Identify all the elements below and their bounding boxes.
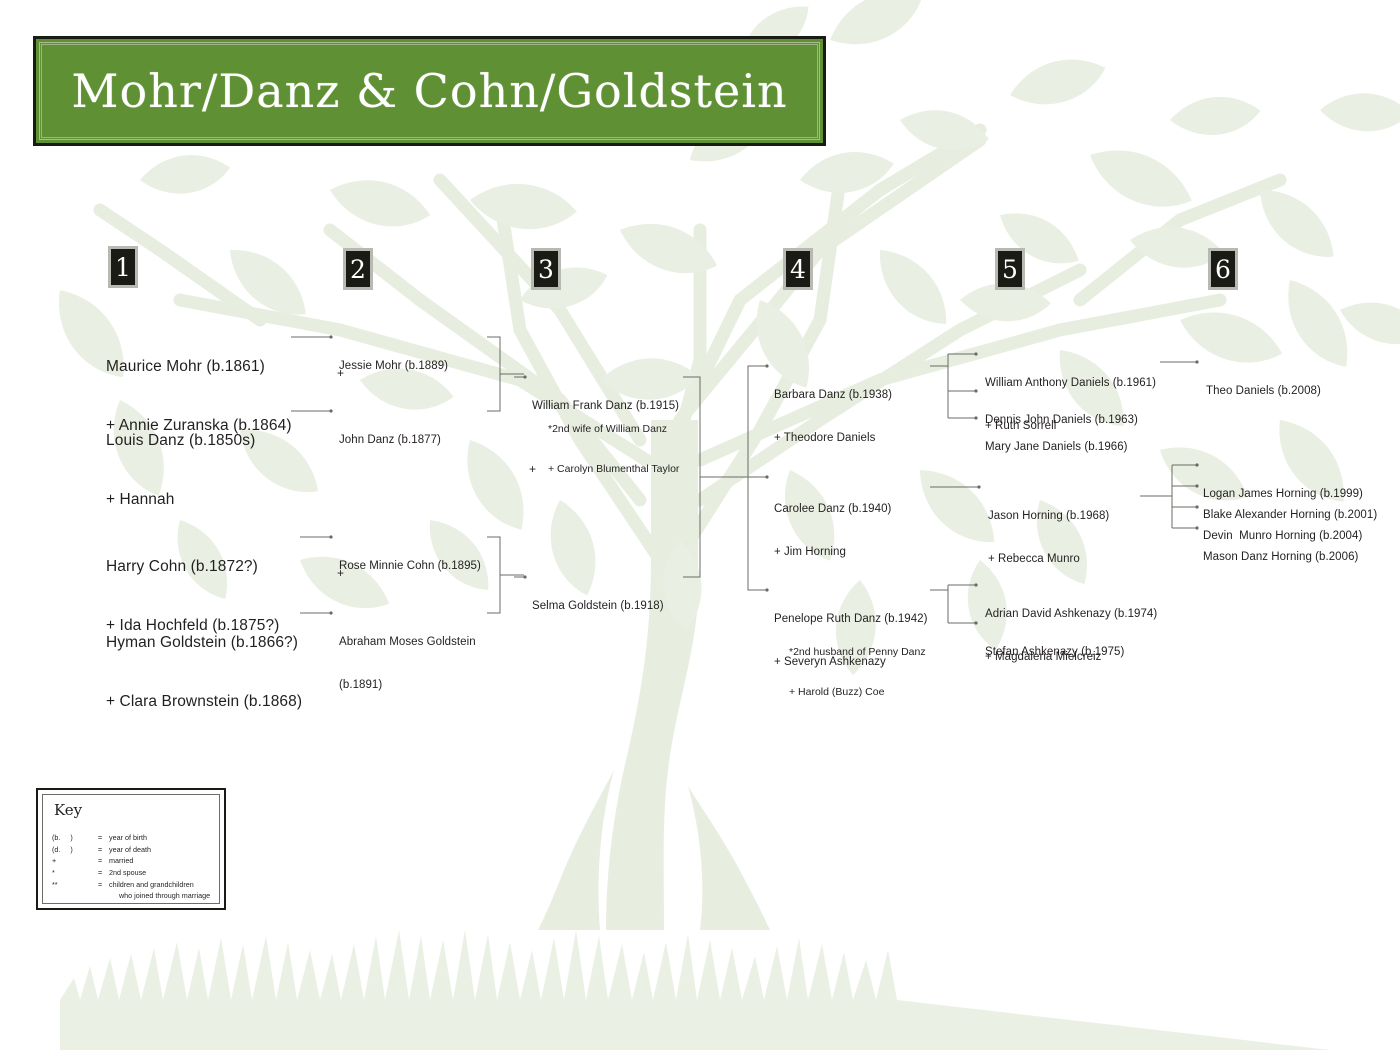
- person-spouse-line: + Theodore Daniels: [774, 431, 892, 445]
- person-stefan-ashkenazy: Stefan Ashkenazy (b.1975): [985, 616, 1124, 688]
- key-row-married: + = married: [52, 855, 210, 867]
- key-row-second-spouse: * = 2nd spouse: [52, 867, 210, 879]
- person-name-line: Theo Daniels (b.2008): [1206, 384, 1321, 398]
- person-name-line: Abraham Moses Goldstein: [339, 635, 476, 649]
- key-equals: =: [98, 832, 109, 844]
- key-symbol: (b. ): [52, 832, 98, 844]
- generation-chip-4-label: 4: [790, 257, 806, 282]
- person-spouse-line: + Rebecca Munro: [988, 552, 1109, 566]
- generation-chip-2-label: 2: [350, 257, 366, 282]
- generation-chip-3: 3: [531, 248, 561, 290]
- note-line-1: *2nd wife of William Danz: [548, 423, 679, 436]
- note-line-1: *2nd husband of Penny Danz: [789, 646, 926, 659]
- generation-chip-1-label: 1: [115, 255, 131, 280]
- person-abraham-moses-goldstein: Abraham Moses Goldstein (b.1891): [339, 606, 476, 722]
- marriage-plus-rose-abraham: +: [337, 566, 344, 580]
- generation-chip-5-label: 5: [1002, 257, 1018, 282]
- person-jessie-mohr: Jessie Mohr (b.1889): [339, 330, 448, 402]
- key-symbol: *: [52, 867, 98, 879]
- key-symbol: **: [52, 879, 98, 902]
- person-name-line: Maurice Mohr (b.1861): [106, 357, 292, 377]
- generation-chip-3-label: 3: [538, 257, 554, 282]
- person-mary-jane-daniels: Mary Jane Daniels (b.1966): [985, 411, 1128, 483]
- person-name-line: Carolee Danz (b.1940): [774, 502, 891, 516]
- key-definition: year of birth: [109, 832, 147, 844]
- person-name-line: Mason Danz Horning (b.2006): [1203, 550, 1358, 564]
- page-title: Mohr/Danz & Cohn/Goldstein: [71, 64, 787, 118]
- person-name-line: Mary Jane Daniels (b.1966): [985, 440, 1128, 454]
- key-row-death: (d. ) = year of death: [52, 844, 210, 856]
- person-name-line: Stefan Ashkenazy (b.1975): [985, 645, 1124, 659]
- family-tree-poster: Mohr/Danz & Cohn/Goldstein 1 2 3 4 5 6 M…: [0, 0, 1400, 1050]
- person-name-line: Barbara Danz (b.1938): [774, 388, 892, 402]
- key-rows: (b. ) = year of birth (d. ) = year of de…: [52, 832, 210, 902]
- key-definition: married: [109, 855, 133, 867]
- person-name-line: Harry Cohn (b.1872?): [106, 557, 279, 577]
- person-name-line: Jessie Mohr (b.1889): [339, 359, 448, 373]
- generation-chip-6: 6: [1208, 248, 1238, 290]
- key-equals: =: [98, 879, 109, 902]
- key-definition: children and grandchildren who joined th…: [109, 879, 210, 902]
- person-name-line: Louis Danz (b.1850s): [106, 431, 255, 451]
- legend-key-box: Key (b. ) = year of birth (d. ) = year o…: [36, 788, 226, 910]
- note-second-husband-penny-danz: *2nd husband of Penny Danz + Harold (Buz…: [789, 620, 926, 726]
- person-name-line: John Danz (b.1877): [339, 433, 441, 447]
- key-title: Key: [54, 801, 82, 819]
- generation-chip-2: 2: [343, 248, 373, 290]
- person-spouse-line: + Jim Horning: [774, 545, 891, 559]
- person-john-danz: John Danz (b.1877): [339, 404, 441, 476]
- person-hyman-goldstein: Hyman Goldstein (b.1866?) + Clara Browns…: [106, 594, 302, 750]
- person-theo-daniels: Theo Daniels (b.2008): [1206, 355, 1321, 427]
- person-selma-goldstein: Selma Goldstein (b.1918): [532, 570, 664, 642]
- key-definition: 2nd spouse: [109, 867, 146, 879]
- person-name-line: Hyman Goldstein (b.1866?): [106, 633, 302, 653]
- person-spouse-line: + Hannah: [106, 490, 255, 510]
- key-equals: =: [98, 855, 109, 867]
- person-name-line: Jason Horning (b.1968): [988, 509, 1109, 523]
- marriage-plus-jessie-john: +: [337, 366, 344, 380]
- generation-chip-4: 4: [783, 248, 813, 290]
- generation-chip-5: 5: [995, 248, 1025, 290]
- person-name-line: Rose Minnie Cohn (b.1895): [339, 559, 481, 573]
- key-equals: =: [98, 867, 109, 879]
- person-spouse-line: + Clara Brownstein (b.1868): [106, 692, 302, 712]
- generation-chip-6-label: 6: [1215, 257, 1231, 282]
- person-barbara-danz: Barbara Danz (b.1938) + Theodore Daniels: [774, 359, 892, 475]
- generation-chip-1: 1: [108, 246, 138, 288]
- marriage-plus-william-selma: +: [529, 462, 536, 476]
- key-symbol: (d. ): [52, 844, 98, 856]
- poster-title-banner: Mohr/Danz & Cohn/Goldstein: [33, 36, 826, 146]
- key-row-joined-through-marriage: ** = children and grandchildren who join…: [52, 879, 210, 902]
- note-line-2: + Harold (Buzz) Coe: [789, 686, 926, 699]
- note-line-2: + Carolyn Blumenthal Taylor: [548, 463, 679, 476]
- person-mason-danz-horning: Mason Danz Horning (b.2006): [1203, 521, 1358, 593]
- person-name-line: Selma Goldstein (b.1918): [532, 599, 664, 613]
- key-definition: year of death: [109, 844, 151, 856]
- key-equals: =: [98, 844, 109, 856]
- person-rose-minnie-cohn: Rose Minnie Cohn (b.1895): [339, 530, 481, 602]
- note-second-wife-william-danz: *2nd wife of William Danz + Carolyn Blum…: [548, 397, 679, 503]
- key-row-birth: (b. ) = year of birth: [52, 832, 210, 844]
- person-birth-line: (b.1891): [339, 678, 476, 692]
- key-symbol: +: [52, 855, 98, 867]
- person-carolee-danz: Carolee Danz (b.1940) + Jim Horning: [774, 473, 891, 589]
